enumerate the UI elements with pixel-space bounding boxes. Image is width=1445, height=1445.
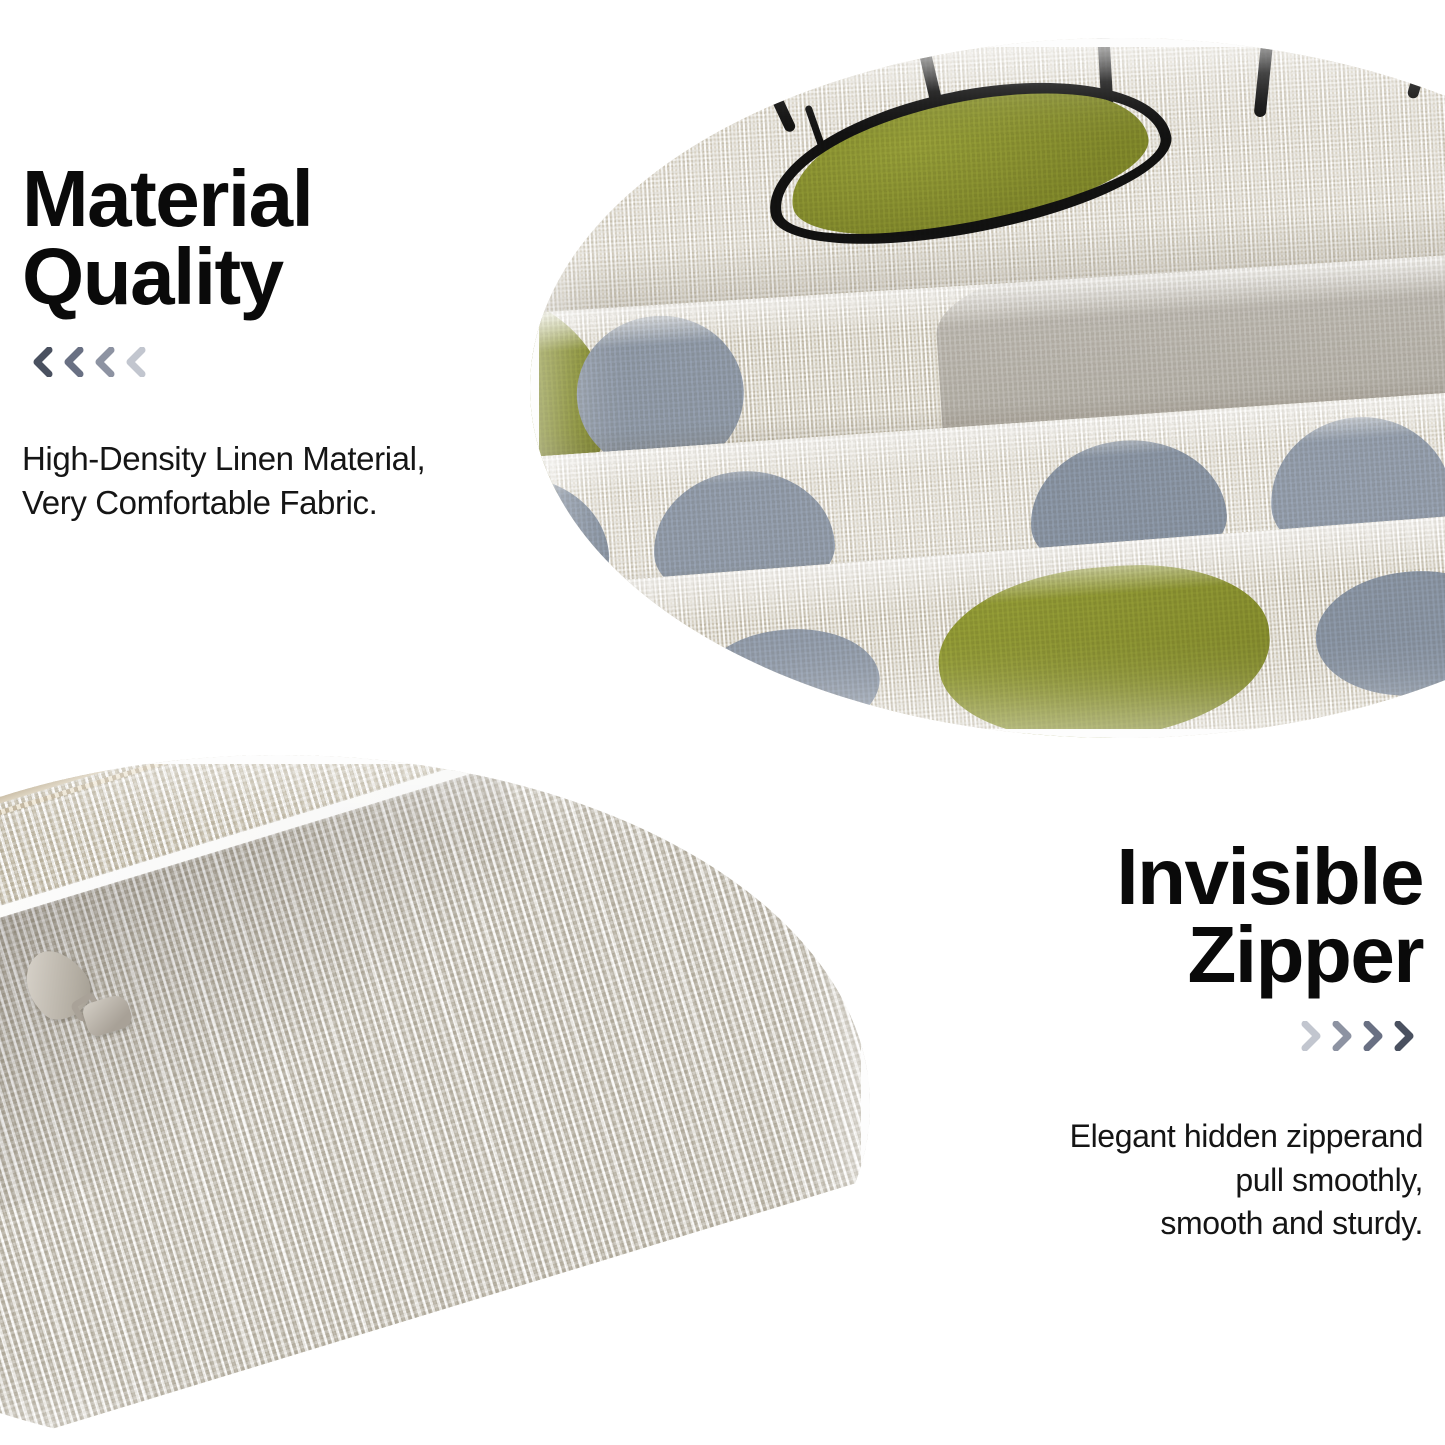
chevron-right-icon <box>1331 1021 1355 1051</box>
headline-line-1: Material <box>22 160 542 238</box>
chevron-right-icon <box>1300 1021 1324 1051</box>
material-quality-text-block: Material Quality High-Density Linen Ma <box>22 160 542 525</box>
chevron-right-icon <box>1362 1021 1386 1051</box>
infographic-page: Material Quality High-Density Linen Ma <box>0 0 1445 1445</box>
headline-line-1: Invisible <box>905 838 1423 916</box>
chevron-right-group <box>905 1019 1423 1053</box>
chevron-right-icon <box>1393 1021 1417 1051</box>
invisible-zipper-text-block: Invisible Zipper Elegant hidden zipper <box>905 838 1423 1246</box>
material-quality-image <box>530 38 1445 738</box>
panel-invisible-zipper: Invisible Zipper Elegant hidden zipper <box>0 748 1445 1445</box>
chevron-left-icon <box>30 347 54 377</box>
headline-line-2: Zipper <box>905 916 1423 994</box>
zipper-closeup-scene <box>0 755 870 1445</box>
invisible-zipper-body: Elegant hidden zipperand pull smoothly, … <box>905 1115 1423 1246</box>
folded-linen-fabric-stack <box>530 38 1445 738</box>
panel-material-quality: Material Quality High-Density Linen Ma <box>0 0 1445 745</box>
chevron-left-icon <box>61 347 85 377</box>
body-line-2: pull smoothly, <box>905 1159 1423 1203</box>
invisible-zipper-image <box>0 755 870 1445</box>
body-line-3: smooth and sturdy. <box>905 1202 1423 1246</box>
chevron-left-icon <box>123 347 147 377</box>
panel-divider <box>0 745 1445 748</box>
invisible-zipper-headline: Invisible Zipper <box>905 838 1423 993</box>
chevron-left-icon <box>92 347 116 377</box>
body-line-2: Very Comfortable Fabric. <box>22 481 542 525</box>
headline-line-2: Quality <box>22 238 542 316</box>
chevron-left-group <box>22 345 542 379</box>
material-quality-headline: Material Quality <box>22 160 542 315</box>
body-line-1: Elegant hidden zipperand <box>905 1115 1423 1159</box>
material-quality-body: High-Density Linen Material, Very Comfor… <box>22 437 542 525</box>
body-line-1: High-Density Linen Material, <box>22 437 542 481</box>
